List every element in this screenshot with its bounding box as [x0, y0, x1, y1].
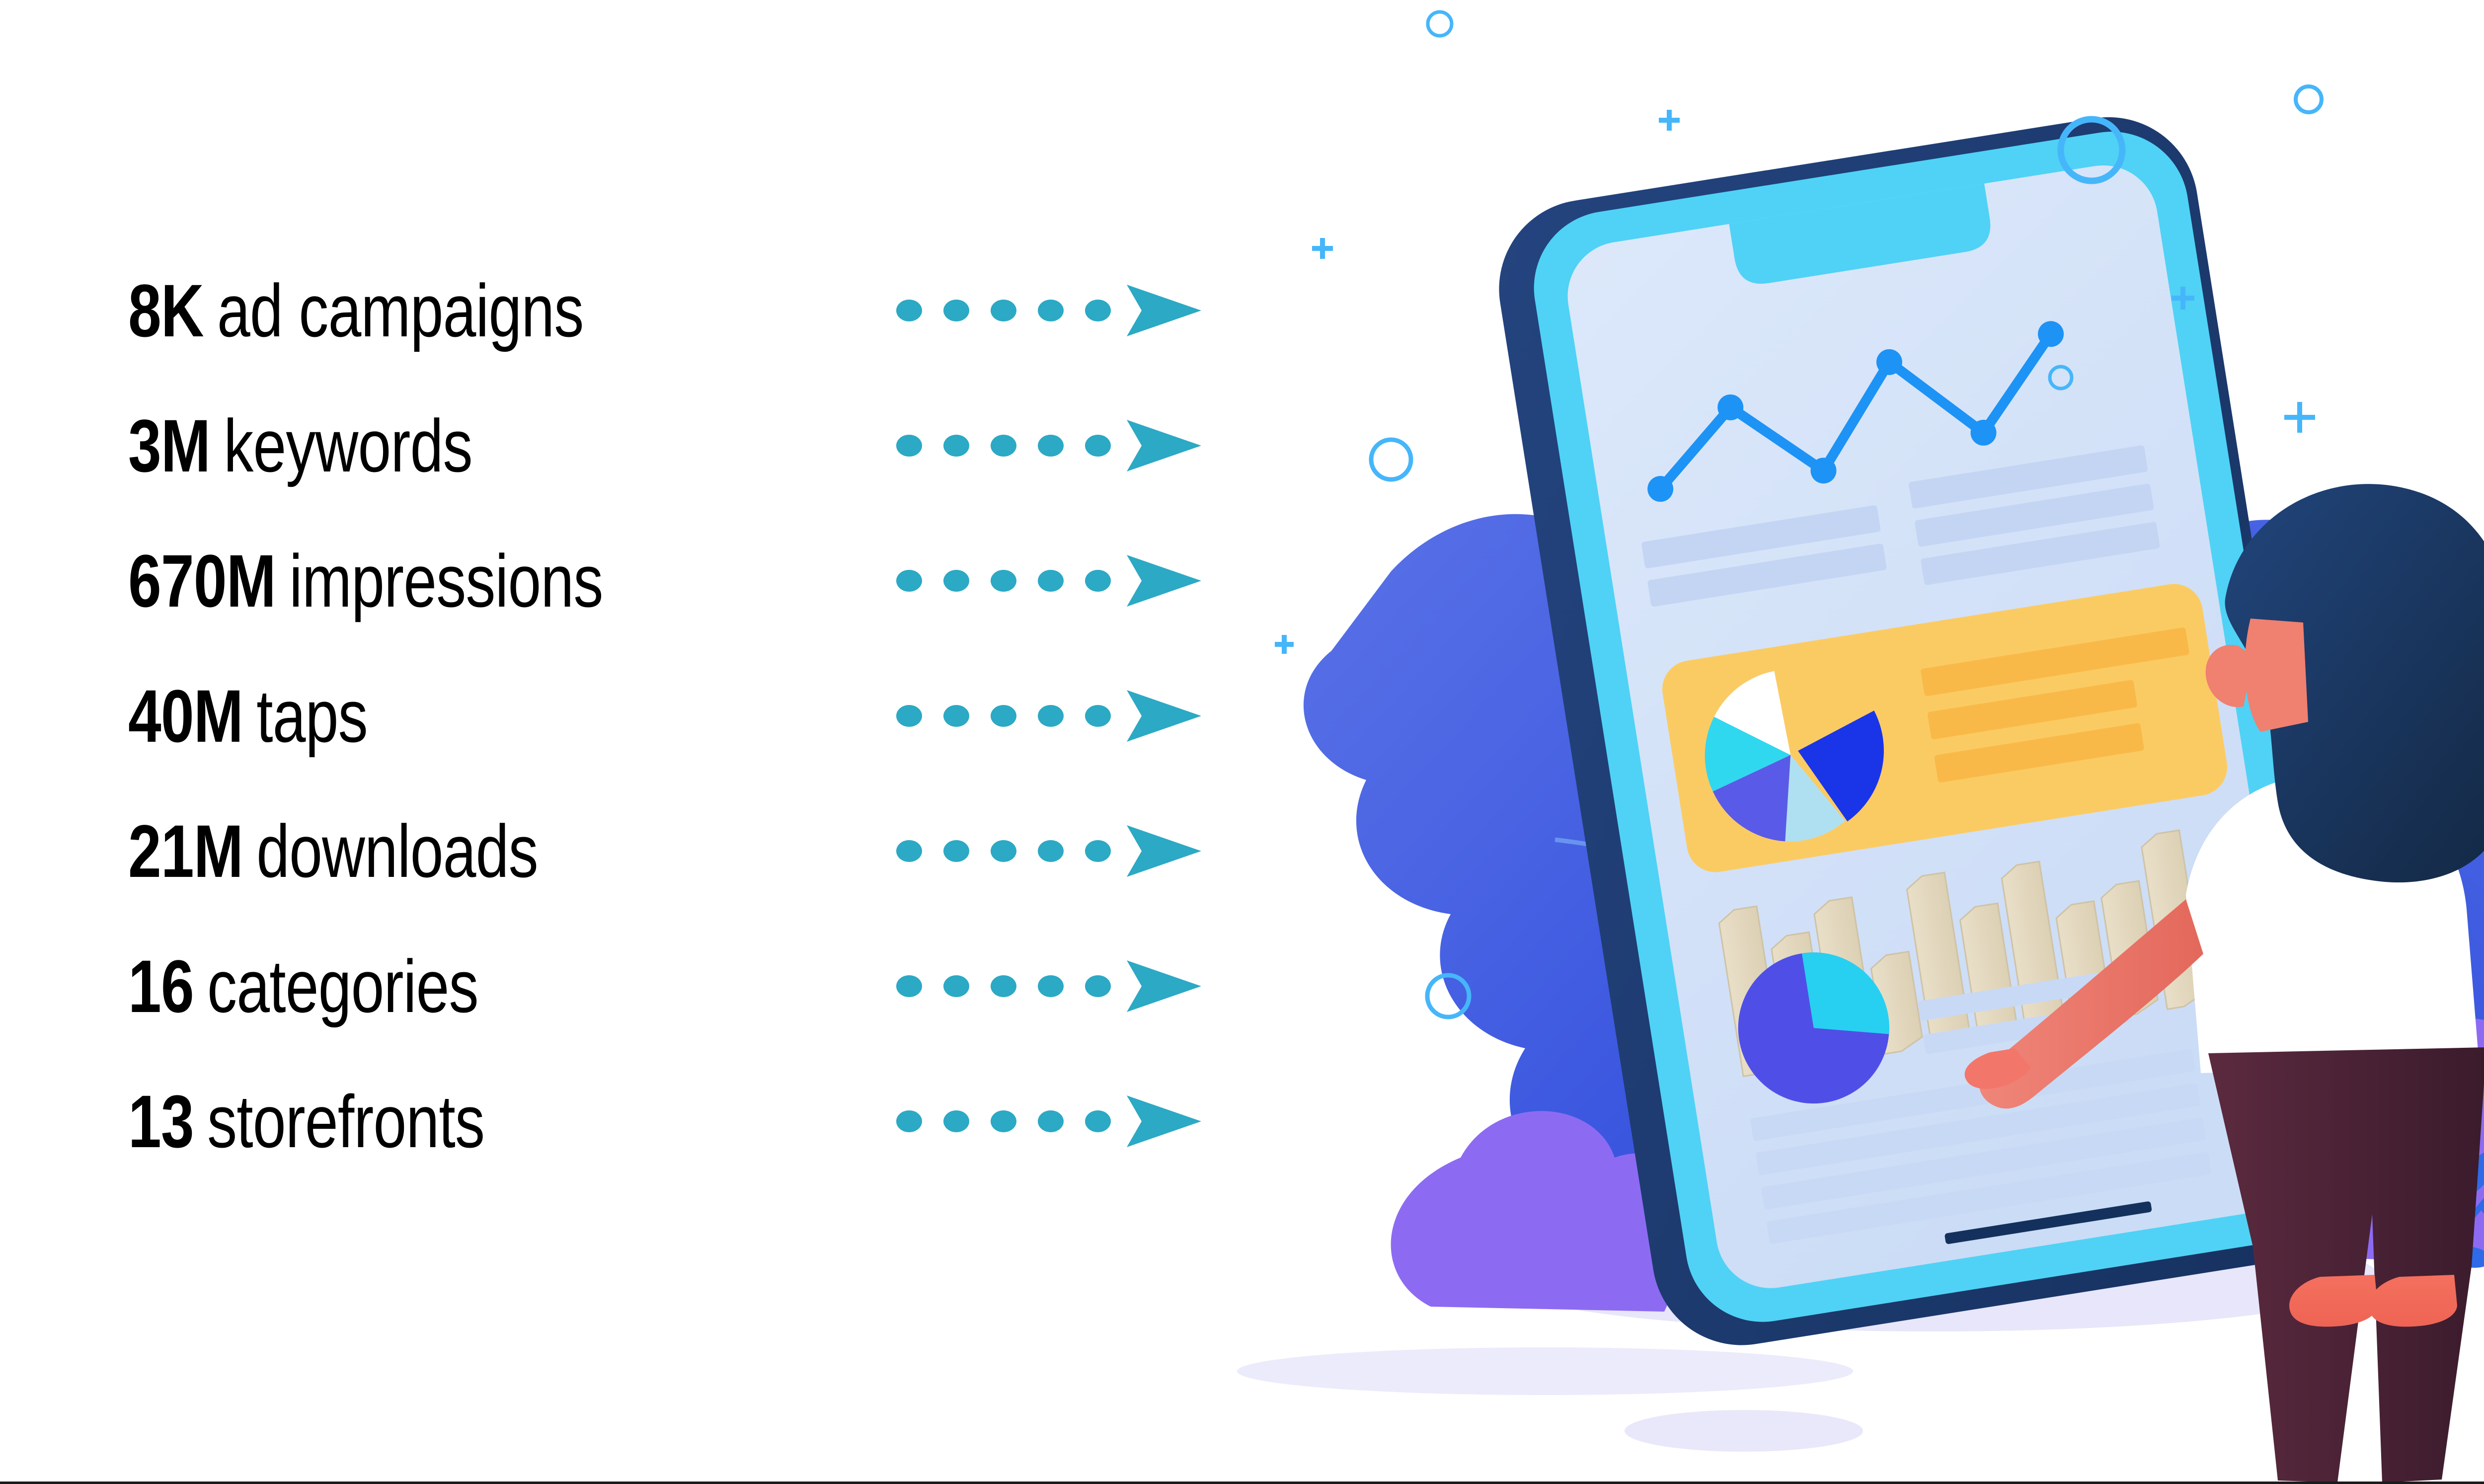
- dotted-arrow-icon: [894, 956, 1202, 1016]
- stat-text: 16 categories: [128, 949, 478, 1023]
- stat-text: 40M taps: [128, 679, 368, 753]
- stat-value: 670M: [128, 544, 276, 618]
- stat-text: 670M impressions: [128, 544, 603, 618]
- stat-value: 16: [128, 949, 194, 1023]
- dotted-arrow-icon: [894, 551, 1202, 611]
- stats-list: 8K ad campaigns 3M keywords: [128, 248, 1221, 1217]
- dotted-arrow-icon: [894, 281, 1202, 340]
- bottom-divider: [0, 1482, 2484, 1484]
- dotted-arrow-icon: [894, 416, 1202, 475]
- stat-text: 13 storefronts: [128, 1084, 484, 1159]
- stat-row: 8K ad campaigns: [128, 248, 1221, 373]
- stat-label: storefronts: [207, 1084, 484, 1159]
- dotted-arrow-icon: [894, 1092, 1202, 1151]
- stat-row: 21M downloads: [128, 789, 1221, 913]
- stat-label: taps: [256, 679, 368, 753]
- stat-row: 3M keywords: [128, 384, 1221, 508]
- stat-text: 21M downloads: [128, 814, 538, 888]
- dotted-arrow-icon: [894, 821, 1202, 881]
- stat-row: 16 categories: [128, 924, 1221, 1048]
- stat-label: keywords: [224, 408, 472, 483]
- stat-value: 3M: [128, 408, 210, 483]
- analytics-illustration: [1227, 0, 2484, 1484]
- stat-text: 8K ad campaigns: [128, 273, 584, 348]
- stat-label: impressions: [289, 544, 603, 618]
- stat-label: ad campaigns: [217, 273, 584, 348]
- stat-row: 40M taps: [128, 654, 1221, 778]
- dotted-arrow-icon: [894, 686, 1202, 746]
- stat-label: categories: [207, 949, 478, 1023]
- stat-value: 13: [128, 1084, 194, 1159]
- stat-value: 8K: [128, 273, 204, 348]
- stat-row: 670M impressions: [128, 519, 1221, 643]
- stat-text: 3M keywords: [128, 408, 472, 483]
- stat-value: 40M: [128, 679, 243, 753]
- illustration-canvas: 8K ad campaigns 3M keywords: [0, 0, 2484, 1484]
- stat-value: 21M: [128, 814, 243, 888]
- stat-label: downloads: [256, 814, 538, 888]
- stat-row: 13 storefronts: [128, 1059, 1221, 1183]
